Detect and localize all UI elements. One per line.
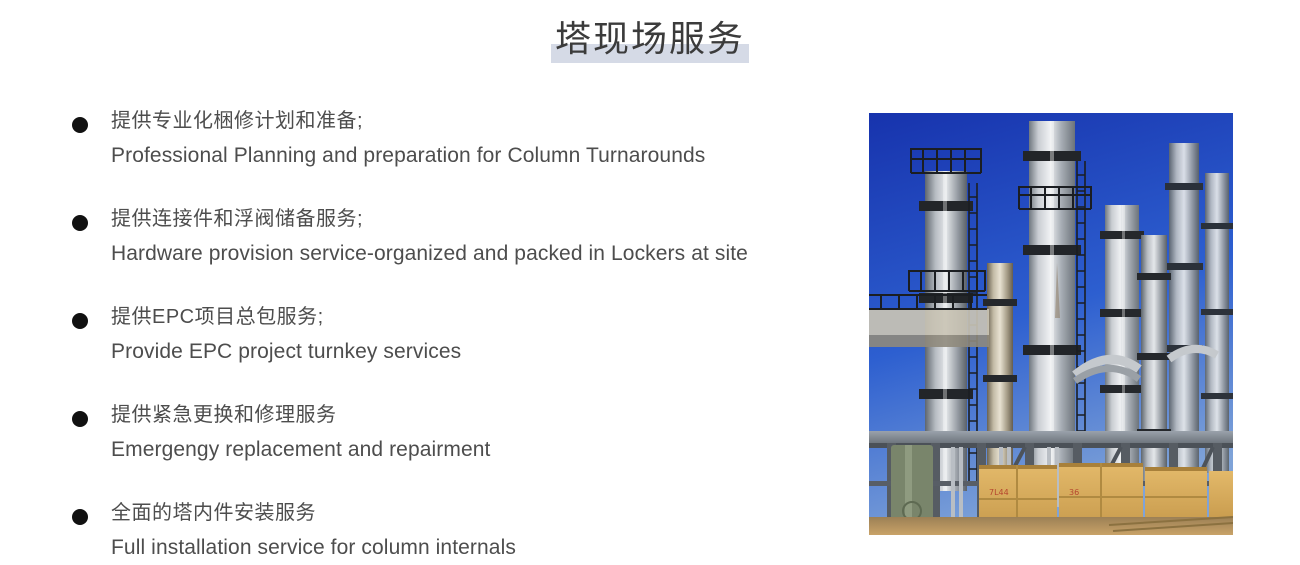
deck-shadow bbox=[869, 335, 989, 347]
bullet-dot-icon bbox=[72, 411, 88, 427]
page-title-container: 塔现场服务 bbox=[0, 14, 1300, 64]
list-item-label-en: Full installation service for column int… bbox=[111, 530, 860, 565]
service-list: 提供专业化梱修计划和准备; Professional Planning and … bbox=[70, 104, 860, 565]
page-title: 塔现场服务 bbox=[551, 14, 749, 64]
list-item-label-en: Professional Planning and preparation fo… bbox=[111, 138, 860, 173]
list-item-label-en: Hardware provision service-organized and… bbox=[111, 236, 860, 271]
list-item-label-en: Provide EPC project turnkey services bbox=[111, 334, 860, 369]
list-item: 全面的塔内件安装服务 Full installation service for… bbox=[70, 496, 860, 565]
list-item: 提供紧急更换和修理服务 Emergengy replacement and re… bbox=[70, 398, 860, 467]
svg-text:7L44: 7L44 bbox=[989, 488, 1009, 497]
concrete-deck bbox=[869, 309, 989, 335]
bullet-dot-icon bbox=[72, 117, 88, 133]
list-item-label-cn: 提供紧急更换和修理服务 bbox=[111, 398, 860, 432]
photo-illustration: 7L44 36 bbox=[869, 113, 1233, 535]
list-item-label-en: Emergengy replacement and repairment bbox=[111, 432, 860, 467]
list-item: 提供专业化梱修计划和准备; Professional Planning and … bbox=[70, 104, 860, 173]
background-columns bbox=[1165, 143, 1233, 473]
list-item: 提供EPC项目总包服务; Provide EPC project turnkey… bbox=[70, 300, 860, 369]
list-item-label-cn: 全面的塔内件安装服务 bbox=[111, 496, 860, 530]
list-item-label-cn: 提供连接件和浮阀储备服务; bbox=[111, 202, 860, 236]
slide-root: 塔现场服务 提供专业化梱修计划和准备; Professional Plannin… bbox=[0, 0, 1300, 564]
svg-text:36: 36 bbox=[1069, 488, 1079, 497]
bullet-dot-icon bbox=[72, 313, 88, 329]
list-item-label-cn: 提供专业化梱修计划和准备; bbox=[111, 104, 860, 138]
list-item: 提供连接件和浮阀储备服务; Hardware provision service… bbox=[70, 202, 860, 271]
distillation-column-photo: 7L44 36 bbox=[869, 113, 1233, 535]
list-item-label-cn: 提供EPC项目总包服务; bbox=[111, 300, 860, 334]
bullet-dot-icon bbox=[72, 509, 88, 525]
page-title-text: 塔现场服务 bbox=[555, 18, 745, 59]
bullet-dot-icon bbox=[72, 215, 88, 231]
